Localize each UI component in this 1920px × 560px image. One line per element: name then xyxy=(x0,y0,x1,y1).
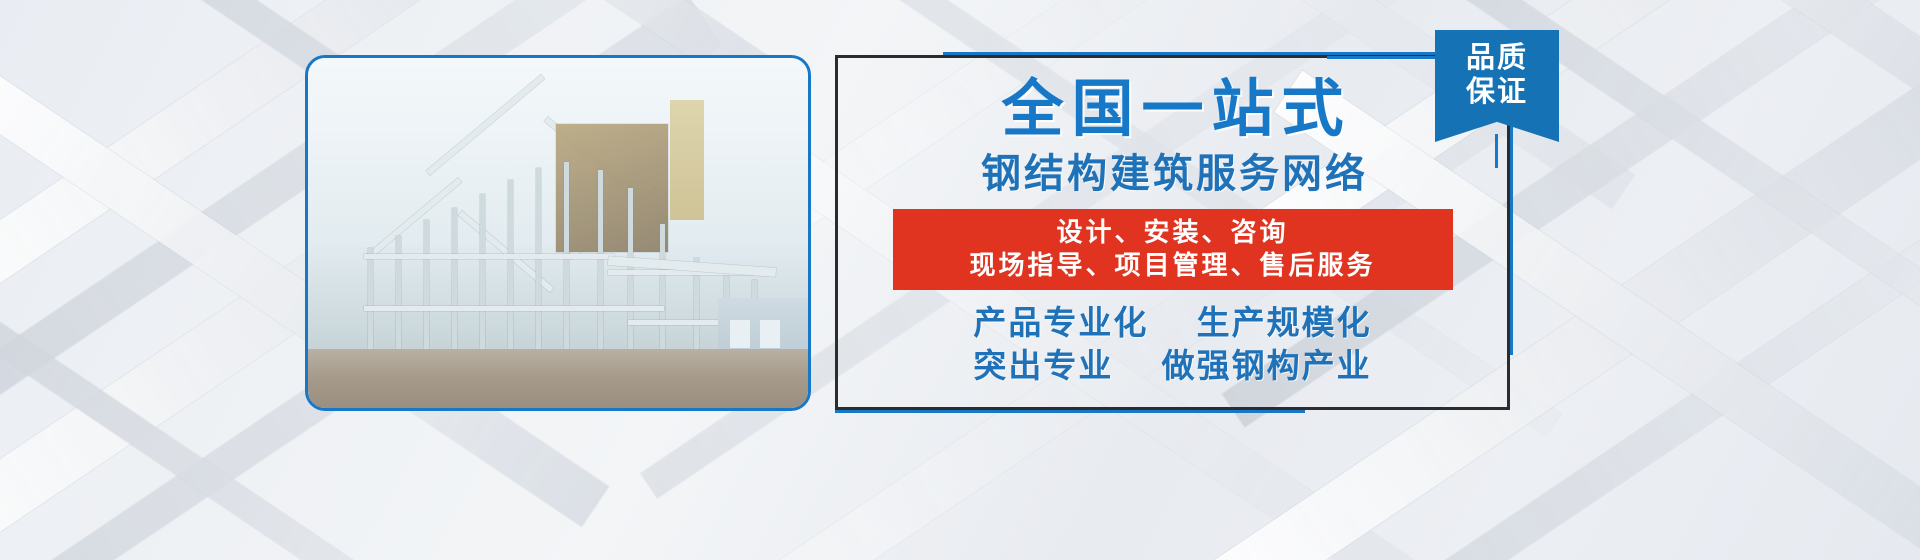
headline-main: 全国一站式 xyxy=(993,77,1351,144)
slogan-2-right: 做强钢构产业 xyxy=(1162,347,1372,384)
photo-content xyxy=(308,58,808,408)
slogan-1-right: 生产规模化 xyxy=(1197,304,1372,341)
slogan-2-left: 突出专业 xyxy=(973,347,1113,384)
badge-line-1: 品质 xyxy=(1435,42,1559,76)
services-line-2: 现场指导、项目管理、售后服务 xyxy=(903,249,1443,282)
badge-label: 品质 保证 xyxy=(1435,42,1559,109)
photo-chimney xyxy=(670,100,704,220)
headline-sub: 钢结构建筑服务网络 xyxy=(977,152,1368,197)
photo-plate xyxy=(364,254,614,259)
photo-sheathing xyxy=(556,124,668,252)
photo-plate xyxy=(364,306,664,311)
slogan-line-2: 突出专业 做强钢构产业 xyxy=(973,345,1371,388)
photo-window xyxy=(730,320,750,348)
quality-badge: 品质 保证 xyxy=(1435,30,1559,142)
services-highlight-box: 设计、安装、咨询 现场指导、项目管理、售后服务 xyxy=(893,209,1453,291)
panel-accent-bottom xyxy=(835,410,1305,413)
services-line-1: 设计、安装、咨询 xyxy=(903,216,1443,249)
badge-connector-arm xyxy=(1327,56,1435,59)
construction-photo xyxy=(305,55,811,411)
text-panel: 全国一站式 钢结构建筑服务网络 设计、安装、咨询 现场指导、项目管理、售后服务 … xyxy=(835,55,1510,410)
badge-line-2: 保证 xyxy=(1435,76,1559,110)
slogan-1-left: 产品专业化 xyxy=(973,304,1148,341)
photo-window xyxy=(760,320,780,348)
badge-tail xyxy=(1495,134,1498,168)
promo-banner: 全国一站式 钢结构建筑服务网络 设计、安装、咨询 现场指导、项目管理、售后服务 … xyxy=(0,0,1920,560)
slogan-line-1: 产品专业化 生产规模化 xyxy=(973,302,1371,345)
photo-ground xyxy=(308,349,808,409)
